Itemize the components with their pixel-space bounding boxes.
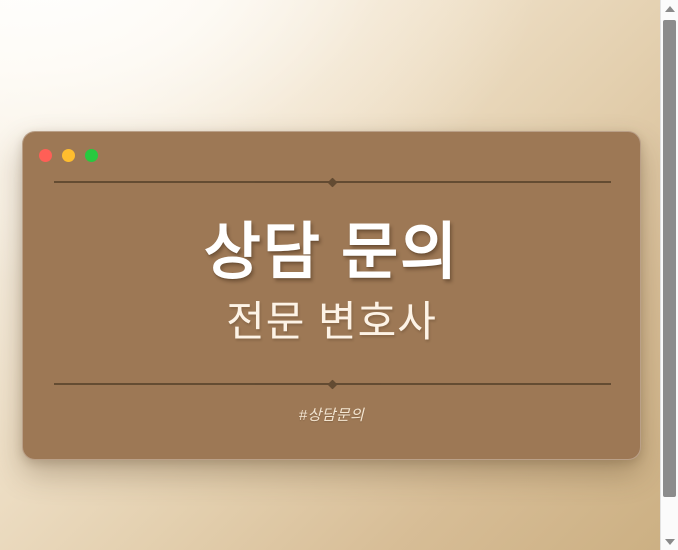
minimize-button[interactable]: [62, 149, 75, 162]
slide-title: 상담 문의: [204, 220, 459, 285]
scrollbar-thumb[interactable]: [663, 20, 676, 497]
divider-bottom: [54, 383, 611, 385]
page-content: 상담 문의 전문 변호사 #상담문의: [0, 0, 660, 550]
slide-body: 상담 문의 전문 변호사: [23, 184, 640, 382]
browser-viewport: 상담 문의 전문 변호사 #상담문의: [0, 0, 678, 550]
maximize-button[interactable]: [85, 149, 98, 162]
slide-subtitle: 전문 변호사: [226, 299, 437, 345]
close-button[interactable]: [39, 149, 52, 162]
scroll-up-arrow-icon: [665, 6, 675, 12]
scroll-down-button[interactable]: [661, 533, 678, 550]
scroll-down-arrow-icon: [665, 539, 675, 545]
scroll-up-button[interactable]: [661, 0, 678, 17]
slide-hashtag: #상담문의: [23, 404, 640, 425]
divider-top: [54, 181, 611, 183]
vertical-scrollbar[interactable]: [660, 0, 678, 550]
window-titlebar: [23, 132, 640, 178]
presentation-slide-card[interactable]: 상담 문의 전문 변호사 #상담문의: [22, 131, 641, 460]
